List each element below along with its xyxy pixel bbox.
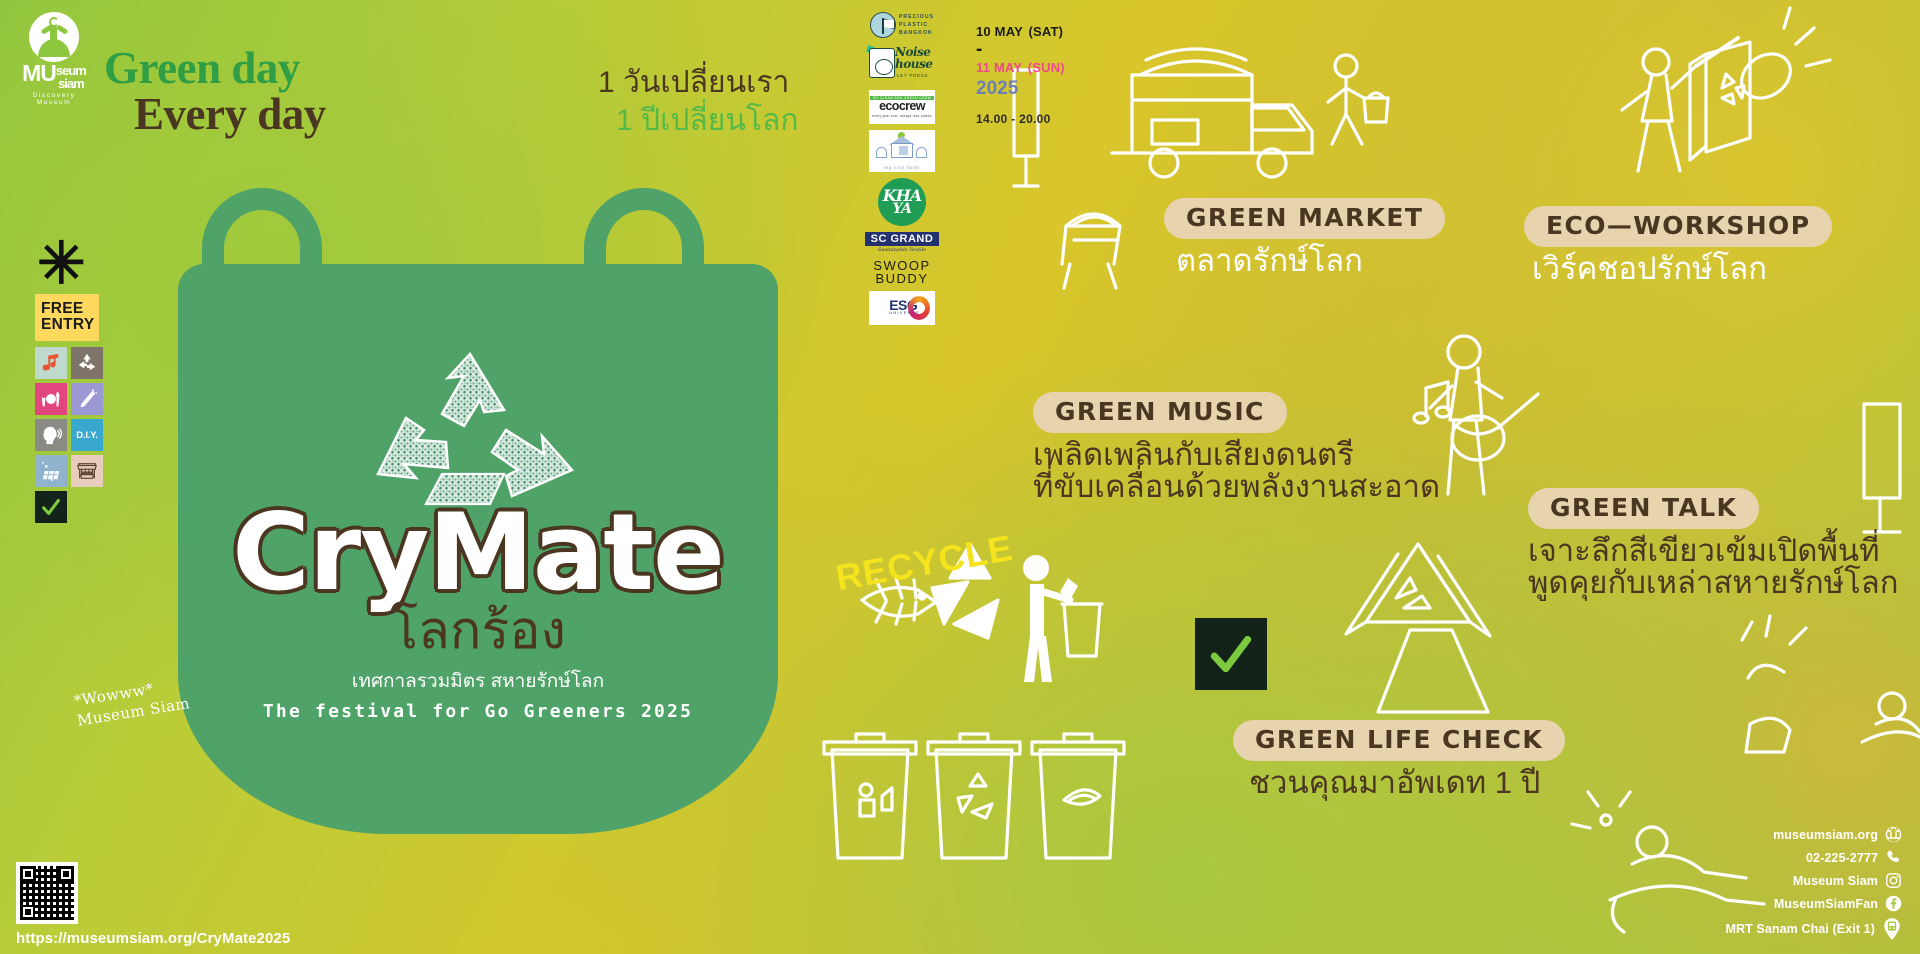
esg-universe-logo: ESG UNIVERSE xyxy=(869,291,935,325)
sc-grand-sub: Sustainable Textile xyxy=(865,247,939,253)
activity-icon-grid: D.I.Y. xyxy=(35,347,121,523)
activity-green-talk-label: GREEN TALK xyxy=(1528,488,1759,529)
activity-green-market-thai: ตลาดรักษ์โลก xyxy=(1176,242,1445,280)
festival-url[interactable]: https://museumsiam.org/CryMate2025 xyxy=(16,930,290,947)
free-entry-line-1: FREE xyxy=(41,301,93,317)
music-note-icon xyxy=(35,347,67,379)
contact-transit[interactable]: MRT Sanam Chai (Exit 1) xyxy=(1672,918,1902,940)
date-day-1: 10 MAY xyxy=(976,24,1023,39)
ecocrew-word: ecocrew xyxy=(879,100,925,113)
activity-green-life-check-label: GREEN LIFE CHECK xyxy=(1233,720,1565,761)
solar-panel-icon xyxy=(35,455,67,487)
left-icon-rail: ✳ FREE ENTRY D.I.Y. xyxy=(35,248,121,523)
ppb-line-1: PRECIOUS xyxy=(899,13,934,21)
swoop-buddy-logo: SWOOP BUDDY xyxy=(864,259,940,285)
museum-siam-logo: MUseumsiam Discovery Museum xyxy=(14,12,94,106)
train-pin-icon xyxy=(1882,918,1902,940)
free-entry-line-2: ENTRY xyxy=(41,317,93,333)
talking-head-icon xyxy=(35,419,67,451)
green-life-check-checkbox[interactable] xyxy=(1195,618,1267,690)
checkmark-icon xyxy=(1206,629,1256,679)
wordmark-mu: MU xyxy=(22,60,56,86)
diy-icon: D.I.Y. xyxy=(71,419,103,451)
festival-title: CryMate โลกร้อง เทศกาลรวมมิตร สหายรักษ์โ… xyxy=(178,500,778,722)
activity-green-music[interactable]: GREEN MUSIC เพลิดเพลินกับเสียงดนตรี ที่ข… xyxy=(1033,392,1440,506)
contact-phone-label: 02-225-2777 xyxy=(1806,851,1878,865)
activity-eco-workshop[interactable]: ECO—WORKSHOP เวิร์คชอปรักษ์โลก xyxy=(1524,206,1832,288)
ppb-line-2: PLASTIC xyxy=(899,21,934,29)
wordmark-siam: siam xyxy=(58,76,84,91)
contact-website-label: museumsiam.org xyxy=(1773,828,1878,842)
market-stall-icon xyxy=(71,455,103,487)
title-english-subtitle: The festival for Go Greeners 2025 xyxy=(178,701,778,722)
wowww-museum-siam-note: *Wowww* Museum Siam xyxy=(73,673,192,731)
activity-green-music-thai-2: ที่ขับเคลื่อนด้วยพลังงานสะอาด xyxy=(1033,468,1440,506)
instagram-icon xyxy=(1885,872,1902,889)
khaya-logo: KHA YA xyxy=(864,178,940,226)
window-shape xyxy=(899,146,908,155)
contact-transit-label: MRT Sanam Chai (Exit 1) xyxy=(1725,922,1875,936)
tagline-line-1: 1 วันเปลี่ยนเรา xyxy=(598,64,799,102)
esg-swirl-icon xyxy=(908,296,930,320)
thai-tagline: 1 วันเปลี่ยนเรา 1 ปีเปลี่ยนโลก xyxy=(598,64,799,139)
qr-code[interactable] xyxy=(16,862,78,924)
date-year: 2025 xyxy=(976,78,1065,100)
plant-left-icon xyxy=(876,147,887,158)
noise-sub: LET PRESS xyxy=(897,73,928,78)
my-city-farm-logo: my city farm xyxy=(869,130,935,172)
noise-word-2: house xyxy=(895,58,932,70)
activity-eco-workshop-label: ECO—WORKSHOP xyxy=(1524,206,1832,247)
khaya-word-b: YA xyxy=(893,203,912,216)
date-day-1-dow: (SAT) xyxy=(1028,24,1063,39)
activity-green-music-label: GREEN MUSIC xyxy=(1033,392,1287,433)
museum-siam-wordmark: MUseumsiam Discovery Museum xyxy=(14,64,94,106)
vegetable-icon xyxy=(71,383,103,415)
plant-right-icon xyxy=(916,147,927,158)
precious-plastic-bangkok-logo: PRECIOUS PLASTIC BANGKOK xyxy=(864,12,940,38)
ecocrew-slogan: every year real, always less plastic xyxy=(872,114,932,118)
contact-instagram-label: Museum Siam xyxy=(1793,874,1878,888)
sponsor-logo-column: PRECIOUS PLASTIC BANGKOK Noise house LET… xyxy=(862,12,942,325)
event-time: 14.00 - 20.00 xyxy=(976,112,1065,126)
qr-code-block[interactable]: https://museumsiam.org/CryMate2025 xyxy=(16,862,290,947)
tagline-line-2: 1 ปีเปลี่ยนโลก xyxy=(616,102,799,140)
recycle-icon xyxy=(71,347,103,379)
date-dash: - xyxy=(976,44,1065,55)
phone-icon xyxy=(1885,849,1902,866)
facebook-icon xyxy=(1885,895,1902,912)
wordmark-tagline: Discovery Museum xyxy=(14,92,94,106)
page-title: Green day Every day xyxy=(104,46,326,138)
sc-grand-band: SC GRAND xyxy=(865,232,939,246)
washing-machine-icon xyxy=(869,48,895,78)
contact-info-block: museumsiam.org 02-225-2777 Museum Siam M… xyxy=(1672,826,1902,946)
globe-icon xyxy=(1885,826,1902,843)
contact-facebook-label: MuseumSiamFan xyxy=(1774,897,1878,911)
ecocrew-logo: SO CLEAN AND GREEN CREW ecocrew every ye… xyxy=(869,90,935,124)
activity-green-talk[interactable]: GREEN TALK เจาะลึกสีเขียวเข้มเปิดพื้นที่… xyxy=(1528,488,1899,602)
free-entry-badge: FREE ENTRY xyxy=(35,294,99,342)
museum-siam-seedling-mark xyxy=(29,12,79,62)
sc-grand-logo: SC GRAND Sustainable Textile xyxy=(865,232,939,253)
headline-line-1: Green day xyxy=(104,46,326,91)
tote-bag-graphic: CryMate โลกร้อง เทศกาลรวมมิตร สหายรักษ์โ… xyxy=(178,194,778,834)
title-thai-subtitle: เทศกาลรวมมิตร สหายรักษ์โลก xyxy=(178,666,778,696)
activity-green-market[interactable]: GREEN MARKET ตลาดรักษ์โลก xyxy=(1164,198,1445,280)
activity-eco-workshop-thai: เวิร์คชอปรักษ์โลก xyxy=(1532,250,1832,288)
ppb-line-3: BANGKOK xyxy=(899,29,934,37)
contact-website[interactable]: museumsiam.org xyxy=(1672,826,1902,843)
checkmark-icon xyxy=(35,491,67,523)
diy-label: D.I.Y. xyxy=(76,430,98,441)
contact-facebook[interactable]: MuseumSiamFan xyxy=(1672,895,1902,912)
plastic-bag-icon xyxy=(870,12,896,38)
contact-phone[interactable]: 02-225-2777 xyxy=(1672,849,1902,866)
date-day-2-dow: (SUN) xyxy=(1028,60,1065,75)
event-date-block: 10 MAY (SAT) - 11 MAY (SUN) 2025 14.00 -… xyxy=(976,20,1065,126)
bag-body: CryMate โลกร้อง เทศกาลรวมมิตร สหายรักษ์โ… xyxy=(178,264,778,834)
poster-canvas: MUseumsiam Discovery Museum Green day Ev… xyxy=(0,0,1920,954)
activity-green-life-check-thai: ชวนคุณมาอัพเดท 1 ปี xyxy=(1249,764,1565,802)
activity-green-talk-thai-2: พูดคุยกับเหล่าสหายรักษ์โลก xyxy=(1528,564,1899,602)
my-city-farm-word: my city farm xyxy=(869,165,935,170)
contact-instagram[interactable]: Museum Siam xyxy=(1672,872,1902,889)
food-plate-icon xyxy=(35,383,67,415)
recycle-word: RECYCLE xyxy=(833,527,1017,599)
date-day-2: 11 MAY xyxy=(976,60,1022,75)
activity-green-market-label: GREEN MARKET xyxy=(1164,198,1445,239)
noise-house-logo: Noise house LET PRESS xyxy=(867,44,937,84)
activity-green-life-check[interactable]: GREEN LIFE CHECK ชวนคุณมาอัพเดท 1 ปี xyxy=(1233,720,1565,802)
title-main: CryMate xyxy=(178,500,778,606)
swoop-word-b: BUDDY xyxy=(873,272,930,285)
headline-line-2: Every day xyxy=(134,91,326,138)
asterisk-icon: ✳ xyxy=(37,248,121,280)
